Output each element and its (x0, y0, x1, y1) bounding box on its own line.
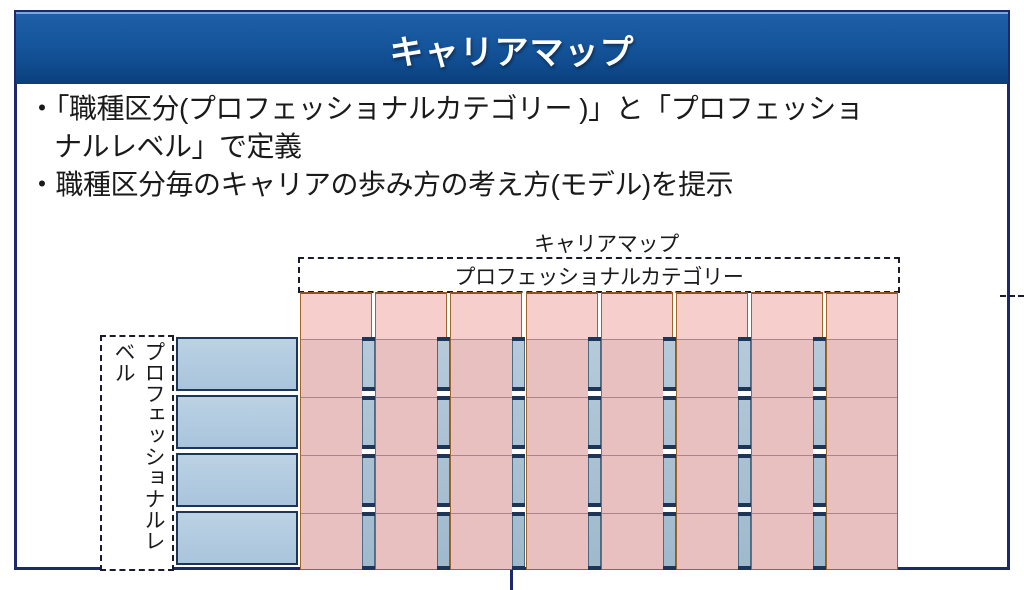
category-column-rowline (677, 513, 747, 514)
connector-strip-cap (813, 337, 826, 341)
connector-strip-cap (437, 454, 450, 458)
category-axis-label: プロフェッショナルカテゴリー (454, 261, 743, 291)
connector-strip-cap (437, 396, 450, 400)
category-column-rowline (827, 339, 897, 340)
connector-strip-cap (588, 566, 601, 570)
level-bar[interactable] (176, 337, 298, 391)
connector-strip-cap (813, 387, 826, 391)
connector-strip-cap (362, 337, 375, 341)
category-column-rowline (752, 513, 822, 514)
category-column-shade (301, 339, 371, 569)
category-column-rowline (677, 339, 747, 340)
connector-strip-cap (663, 512, 676, 516)
connector-strip-cap (512, 566, 525, 570)
slide-canvas: キャリアマップ ・「職種区分(プロフェッショナルカテゴリー )」と「プロフェッシ… (0, 0, 1024, 590)
connector-strip-cap (588, 337, 601, 341)
category-column-rowline (527, 339, 597, 340)
career-map-diagram: キャリアマップ プロフェッショナルカテゴリー プロフェッショナルレベル (0, 0, 1024, 590)
category-column-shade (602, 339, 672, 569)
connector-strip-cap (813, 454, 826, 458)
category-column-rowline (376, 339, 446, 340)
category-column-rowline (677, 455, 747, 456)
connector-strip-cap (362, 387, 375, 391)
connector-strip-cap (512, 454, 525, 458)
category-column-rowline (602, 339, 672, 340)
level-bar[interactable] (176, 511, 298, 565)
connector-strip-cap (813, 566, 826, 570)
level-axis-label: プロフェッショナルレベル (108, 341, 168, 569)
connector-strip-cap (437, 337, 450, 341)
connector-strip-cap (437, 512, 450, 516)
connector-strip-cap (588, 387, 601, 391)
category-column-rowline (752, 397, 822, 398)
connector-strip-cap (588, 445, 601, 449)
category-column-rowline (827, 455, 897, 456)
connector-strip-cap (738, 445, 751, 449)
connector-strip[interactable] (512, 337, 525, 570)
connector-strip-cap (588, 512, 601, 516)
connector-strip-cap (437, 566, 450, 570)
category-column-rowline (527, 397, 597, 398)
connector-strip-cap (663, 387, 676, 391)
connector-strip-cap (437, 445, 450, 449)
connector-strip-cap (437, 387, 450, 391)
connector-strip[interactable] (362, 337, 375, 570)
category-column-rowline (301, 339, 371, 340)
connector-strip-cap (738, 337, 751, 341)
category-column-rowline (752, 455, 822, 456)
category-column-rowline (451, 513, 521, 514)
right-edge-dash (1000, 295, 1024, 297)
category-column-rowline (527, 455, 597, 456)
category-column-shade (451, 339, 521, 569)
connector-strip-cap (437, 503, 450, 507)
category-column-rowline (451, 397, 521, 398)
connector-strip-cap (362, 503, 375, 507)
connector-strip-cap (813, 396, 826, 400)
connector-strip-cap (588, 454, 601, 458)
connector-strip-cap (813, 503, 826, 507)
level-axis-box: プロフェッショナルレベル (100, 335, 174, 571)
category-column-rowline (301, 397, 371, 398)
level-bar[interactable] (176, 453, 298, 507)
category-column[interactable] (826, 292, 898, 570)
connector-strip-cap (663, 445, 676, 449)
connector-strip[interactable] (738, 337, 751, 570)
connector-strip-cap (738, 503, 751, 507)
connector-strip-cap (813, 512, 826, 516)
category-column-rowline (376, 455, 446, 456)
category-column-rowline (527, 513, 597, 514)
connector-strip[interactable] (588, 337, 601, 570)
connector-strip-cap (738, 454, 751, 458)
diagram-title: キャリアマップ (534, 228, 679, 258)
connector-strip-cap (512, 387, 525, 391)
category-column-rowline (677, 397, 747, 398)
category-axis-box: プロフェッショナルカテゴリー (298, 257, 900, 293)
category-column-shade (677, 339, 747, 569)
category-column-rowline (301, 513, 371, 514)
connector-strip-cap (512, 337, 525, 341)
category-column-rowline (376, 397, 446, 398)
level-bar[interactable] (176, 395, 298, 449)
connector-strip-cap (663, 337, 676, 341)
connector-strip-cap (362, 566, 375, 570)
connector-strip[interactable] (813, 337, 826, 570)
connector-strip-cap (588, 396, 601, 400)
connector-strip-cap (738, 387, 751, 391)
category-column-rowline (602, 513, 672, 514)
category-column-rowline (451, 455, 521, 456)
category-column-rowline (301, 455, 371, 456)
connector-strip[interactable] (663, 337, 676, 570)
connector-strip-cap (738, 512, 751, 516)
connector-strip-cap (663, 566, 676, 570)
connector-strip-cap (512, 445, 525, 449)
category-column-rowline (376, 513, 446, 514)
connector-strip-cap (738, 566, 751, 570)
category-column-rowline (827, 513, 897, 514)
connector-strip[interactable] (437, 337, 450, 570)
connector-strip-cap (362, 445, 375, 449)
category-column-shade (827, 339, 897, 569)
category-column-rowline (602, 397, 672, 398)
connector-strip-cap (663, 454, 676, 458)
connector-strip-cap (362, 512, 375, 516)
category-column-rowline (602, 455, 672, 456)
connector-strip-cap (512, 396, 525, 400)
category-column-rowline (451, 339, 521, 340)
connector-strip-cap (362, 454, 375, 458)
connector-strip-cap (813, 445, 826, 449)
category-column-rowline (827, 397, 897, 398)
connector-strip-cap (362, 396, 375, 400)
connector-strip-cap (512, 512, 525, 516)
connector-strip-cap (663, 503, 676, 507)
category-column-shade (752, 339, 822, 569)
category-column-shade (376, 339, 446, 569)
category-column-shade (527, 339, 597, 569)
connector-strip-cap (512, 503, 525, 507)
connector-strip-cap (588, 503, 601, 507)
connector-strip-cap (663, 396, 676, 400)
category-column-rowline (752, 339, 822, 340)
connector-strip-cap (738, 396, 751, 400)
